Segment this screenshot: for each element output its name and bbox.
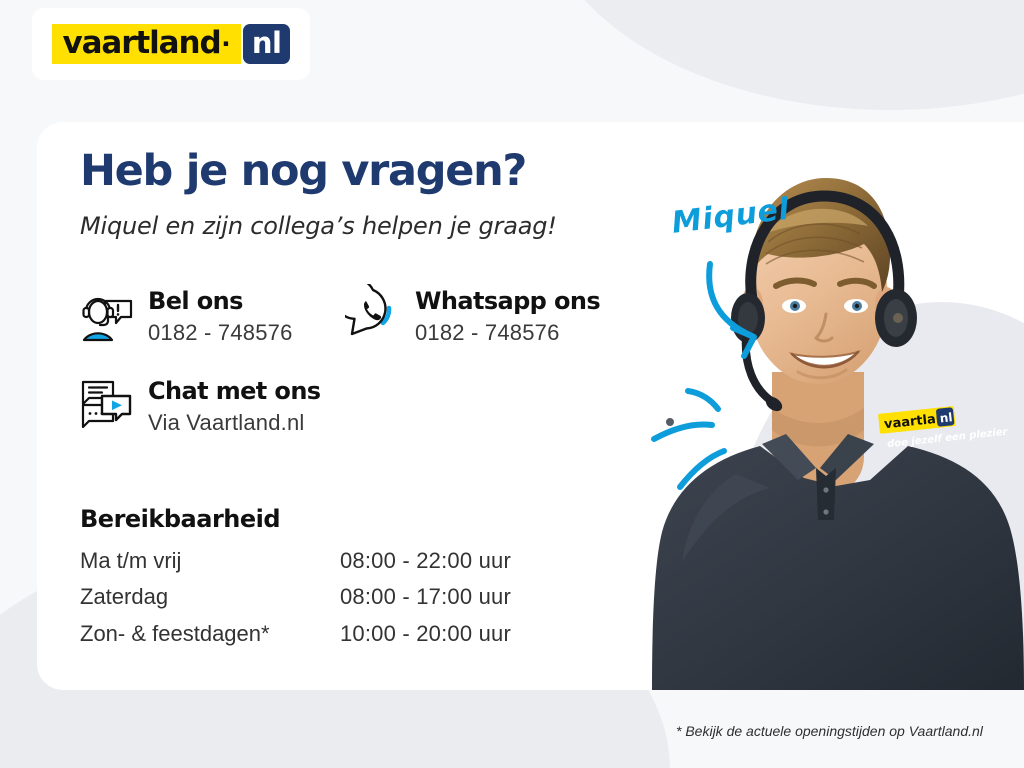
curved-arrow-icon bbox=[700, 258, 810, 368]
logo-tld: nl bbox=[252, 29, 282, 58]
logo-navy-block: nl bbox=[243, 24, 291, 64]
svg-text:nl: nl bbox=[939, 410, 953, 425]
availability-day: Zaterdag bbox=[80, 584, 340, 620]
table-row: Ma t/m vrij 08:00 - 22:00 uur bbox=[80, 548, 511, 584]
logo-wordmark: vaartland bbox=[63, 28, 221, 59]
contact-chat-value[interactable]: Via Vaartland.nl bbox=[148, 406, 321, 439]
availability-day: Ma t/m vrij bbox=[80, 548, 340, 584]
whatsapp-icon bbox=[345, 284, 401, 342]
footer-note: * Bekijk de actuele openingstijden op Va… bbox=[676, 723, 983, 739]
logo-yellow-block: vaartland · bbox=[52, 24, 241, 64]
availability-table: Ma t/m vrij 08:00 - 22:00 uur Zaterdag 0… bbox=[80, 548, 511, 657]
availability-day: Zon- & feestdagen* bbox=[80, 621, 340, 657]
vaartland-logo[interactable]: vaartland · nl bbox=[32, 8, 310, 80]
availability-time: 08:00 - 22:00 uur bbox=[340, 548, 511, 584]
availability-time: 08:00 - 17:00 uur bbox=[340, 584, 511, 620]
contact-method-chat[interactable]: Chat met ons Via Vaartland.nl bbox=[78, 374, 321, 439]
motion-lines-icon bbox=[648, 365, 758, 495]
availability-time: 10:00 - 20:00 uur bbox=[340, 621, 511, 657]
contact-call-title: Bel ons bbox=[148, 287, 243, 315]
logo-dot: · bbox=[222, 28, 232, 59]
table-row: Zon- & feestdagen* 10:00 - 20:00 uur bbox=[80, 621, 511, 657]
contact-whatsapp-title: Whatsapp ons bbox=[415, 287, 600, 315]
contact-method-whatsapp[interactable]: Whatsapp ons 0182 - 748576 bbox=[345, 284, 600, 349]
headset-agent-icon bbox=[78, 284, 134, 342]
page-title: Heb je nog vragen? bbox=[80, 150, 526, 193]
contact-chat-title: Chat met ons bbox=[148, 377, 321, 405]
contact-method-call[interactable]: Bel ons 0182 - 748576 bbox=[78, 284, 293, 349]
availability-title: Bereikbaarheid bbox=[80, 505, 280, 533]
contact-whatsapp-value[interactable]: 0182 - 748576 bbox=[415, 316, 600, 349]
page-subtitle: Miquel en zijn collega’s helpen je graag… bbox=[80, 212, 557, 240]
contact-call-value[interactable]: 0182 - 748576 bbox=[148, 316, 293, 349]
chat-bubbles-icon bbox=[78, 374, 134, 432]
decorative-blob-top-right bbox=[540, 0, 1024, 110]
table-row: Zaterdag 08:00 - 17:00 uur bbox=[80, 584, 511, 620]
